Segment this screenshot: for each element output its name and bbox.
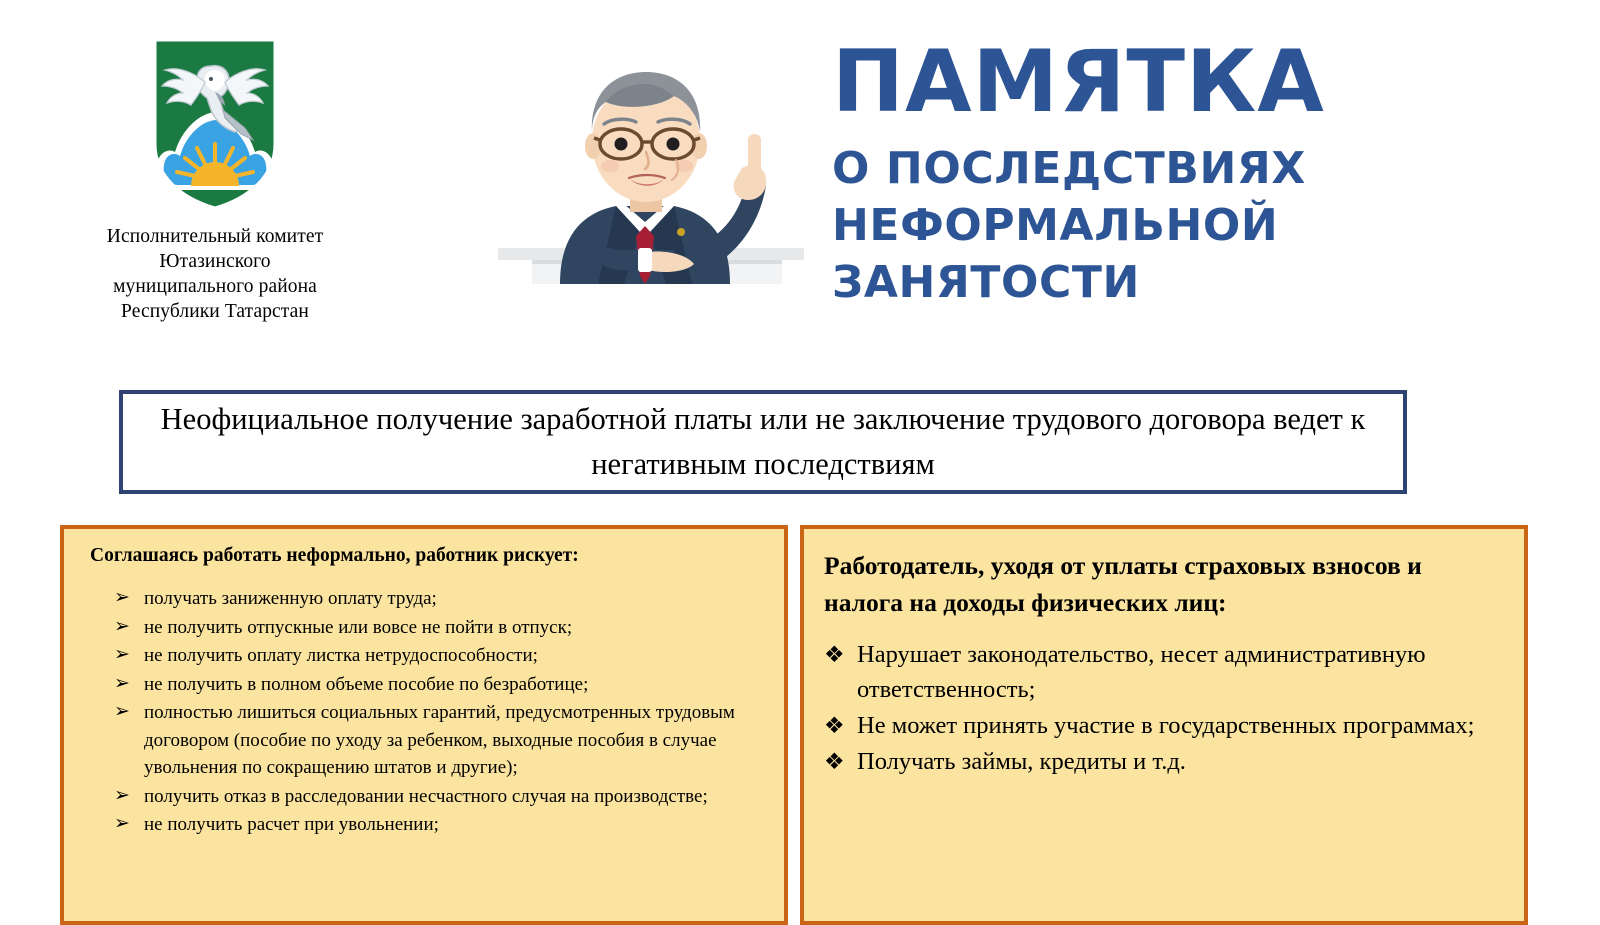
- organization-line: муниципального района: [70, 274, 360, 299]
- list-item-text: Нарушает законодательство, несет админис…: [857, 641, 1426, 703]
- list-item: ➢ не получить отпускные или вовсе не пой…: [82, 614, 768, 642]
- arrow-bullet-icon: ➢: [114, 782, 130, 810]
- arrow-bullet-icon: ➢: [114, 641, 130, 669]
- employer-consequences-list: ❖ Нарушает законодательство, несет админ…: [824, 637, 1506, 779]
- organization-caption: Исполнительный комитет Ютазинского муниц…: [70, 224, 360, 324]
- organization-line: Республики Татарстан: [70, 299, 360, 324]
- diamond-bullet-icon: ❖: [824, 708, 845, 743]
- list-item: ❖ Не может принять участие в государстве…: [824, 708, 1506, 743]
- list-item: ❖ Нарушает законодательство, несет админ…: [824, 637, 1506, 707]
- list-item-text: Не может принять участие в государственн…: [857, 712, 1474, 739]
- arrow-bullet-icon: ➢: [114, 670, 130, 698]
- statement-banner: Неофициальное получение заработной платы…: [119, 390, 1407, 494]
- list-item: ➢ не получить в полном объеме пособие по…: [82, 671, 768, 699]
- list-item: ➢ не получить расчет при увольнении;: [82, 811, 768, 839]
- list-item: ➢ полностью лишиться социальных гарантий…: [82, 699, 768, 782]
- list-item-text: Получать займы, кредиты и т.д.: [857, 748, 1186, 775]
- list-item: ❖ Получать займы, кредиты и т.д.: [824, 744, 1506, 779]
- list-item-text: получать заниженную оплату труда;: [144, 588, 437, 609]
- employee-risks-panel: Соглашаясь работать неформально, работни…: [60, 525, 788, 925]
- employee-risks-heading: Соглашаясь работать неформально, работни…: [90, 543, 768, 569]
- list-item: ➢ получать заниженную оплату труда;: [82, 585, 768, 613]
- list-item-text: полностью лишиться социальных гарантий, …: [144, 702, 735, 778]
- arrow-bullet-icon: ➢: [114, 698, 130, 726]
- employer-consequences-panel: Работодатель, уходя от уплаты страховых …: [800, 525, 1528, 925]
- coat-of-arms-icon: [149, 36, 281, 212]
- list-item-text: не получить расчет при увольнении;: [144, 814, 439, 835]
- statement-banner-text: Неофициальное получение заработной платы…: [123, 397, 1403, 487]
- page-title: ПАМЯТКА: [832, 38, 1572, 126]
- page-subtitle: О ПОСЛЕДСТВИЯХ НЕФОРМАЛЬНОЙ ЗАНЯТОСТИ: [832, 140, 1572, 311]
- page-subtitle-line: НЕФОРМАЛЬНОЙ: [832, 197, 1572, 254]
- organization-line: Исполнительный комитет: [70, 224, 360, 249]
- list-item: ➢ не получить оплату листка нетрудоспосо…: [82, 642, 768, 670]
- list-item-text: получить отказ в расследовании несчастно…: [144, 786, 708, 807]
- list-item-text: не получить отпускные или вовсе не пойти…: [144, 617, 572, 638]
- employer-consequences-heading: Работодатель, уходя от уплаты страховых …: [824, 547, 1506, 621]
- arrow-bullet-icon: ➢: [114, 810, 130, 838]
- illustration-graphic: [498, 36, 804, 284]
- diamond-bullet-icon: ❖: [824, 744, 845, 779]
- emblem-block: Исполнительный комитет Ютазинского муниц…: [70, 36, 360, 324]
- diamond-bullet-icon: ❖: [824, 637, 845, 672]
- list-item-text: не получить в полном объеме пособие по б…: [144, 674, 588, 695]
- title-block: ПАМЯТКА О ПОСЛЕДСТВИЯХ НЕФОРМАЛЬНОЙ ЗАНЯ…: [832, 38, 1572, 311]
- man-pointing-finger-illustration: [498, 36, 804, 284]
- employee-risks-list: ➢ получать заниженную оплату труда; ➢ не…: [82, 585, 768, 839]
- page-subtitle-line: ЗАНЯТОСТИ: [832, 254, 1572, 311]
- arrow-bullet-icon: ➢: [114, 584, 130, 612]
- poster-header: Исполнительный комитет Ютазинского муниц…: [0, 0, 1600, 378]
- organization-line: Ютазинского: [70, 249, 360, 274]
- list-item: ➢ получить отказ в расследовании несчаст…: [82, 783, 768, 811]
- page-subtitle-line: О ПОСЛЕДСТВИЯХ: [832, 140, 1572, 197]
- arrow-bullet-icon: ➢: [114, 613, 130, 641]
- list-item-text: не получить оплату листка нетрудоспособн…: [144, 645, 538, 666]
